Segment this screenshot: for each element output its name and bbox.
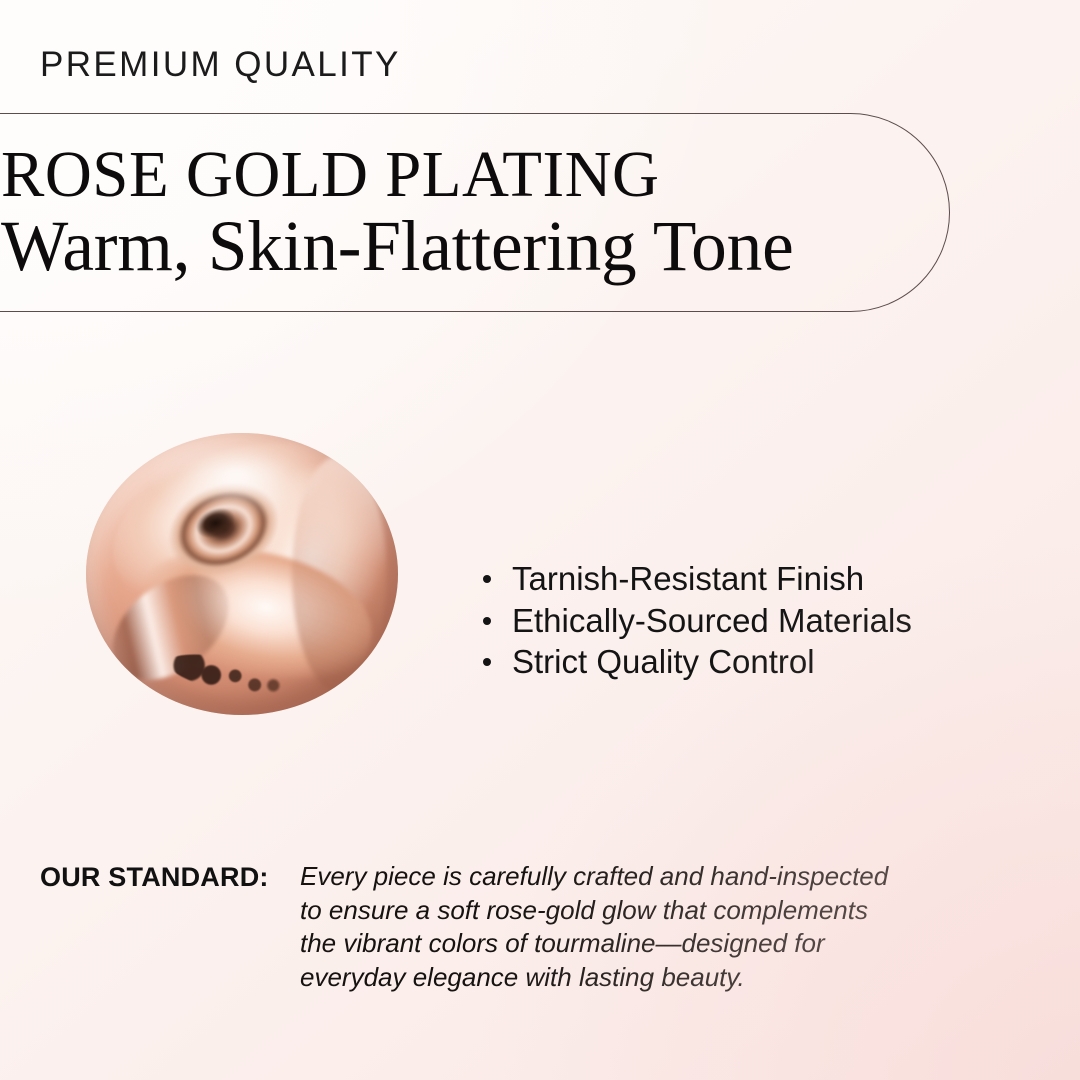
orb-body	[86, 433, 398, 715]
list-item: Strict Quality Control	[478, 641, 912, 683]
feature-label: Strict Quality Control	[512, 643, 815, 680]
poster-canvas: PREMIUM QUALITY ROSE GOLD PLATING Warm, …	[0, 0, 1080, 1080]
eyebrow-label: PREMIUM QUALITY	[40, 47, 401, 82]
standard-line: the vibrant colors of tourmaline—designe…	[300, 927, 1020, 961]
feature-list: Tarnish-Resistant Finish Ethically-Sourc…	[478, 558, 912, 683]
headline-pill-frame: ROSE GOLD PLATING Warm, Skin-Flattering …	[0, 113, 950, 312]
standard-body: Every piece is carefully crafted and han…	[300, 860, 1020, 994]
orb-gloss-sheen	[136, 439, 336, 524]
bullet-dot-icon	[483, 658, 491, 666]
rose-gold-orb-image	[86, 433, 398, 715]
headline-primary: ROSE GOLD PLATING	[1, 143, 937, 206]
feature-label: Ethically-Sourced Materials	[512, 602, 912, 639]
standard-line: Every piece is carefully crafted and han…	[300, 860, 1020, 894]
feature-label: Tarnish-Resistant Finish	[512, 560, 864, 597]
bullet-dot-icon	[483, 575, 491, 583]
list-item: Ethically-Sourced Materials	[478, 600, 912, 642]
standard-label: OUR STANDARD:	[40, 862, 269, 893]
list-item: Tarnish-Resistant Finish	[478, 558, 912, 600]
standard-line: everyday elegance with lasting beauty.	[300, 961, 1020, 995]
headline-secondary: Warm, Skin-Flattering Tone	[1, 210, 942, 283]
headline-block: ROSE GOLD PLATING Warm, Skin-Flattering …	[1, 114, 951, 313]
bullet-dot-icon	[483, 617, 491, 625]
standard-line: to ensure a soft rose-gold glow that com…	[300, 894, 1020, 928]
